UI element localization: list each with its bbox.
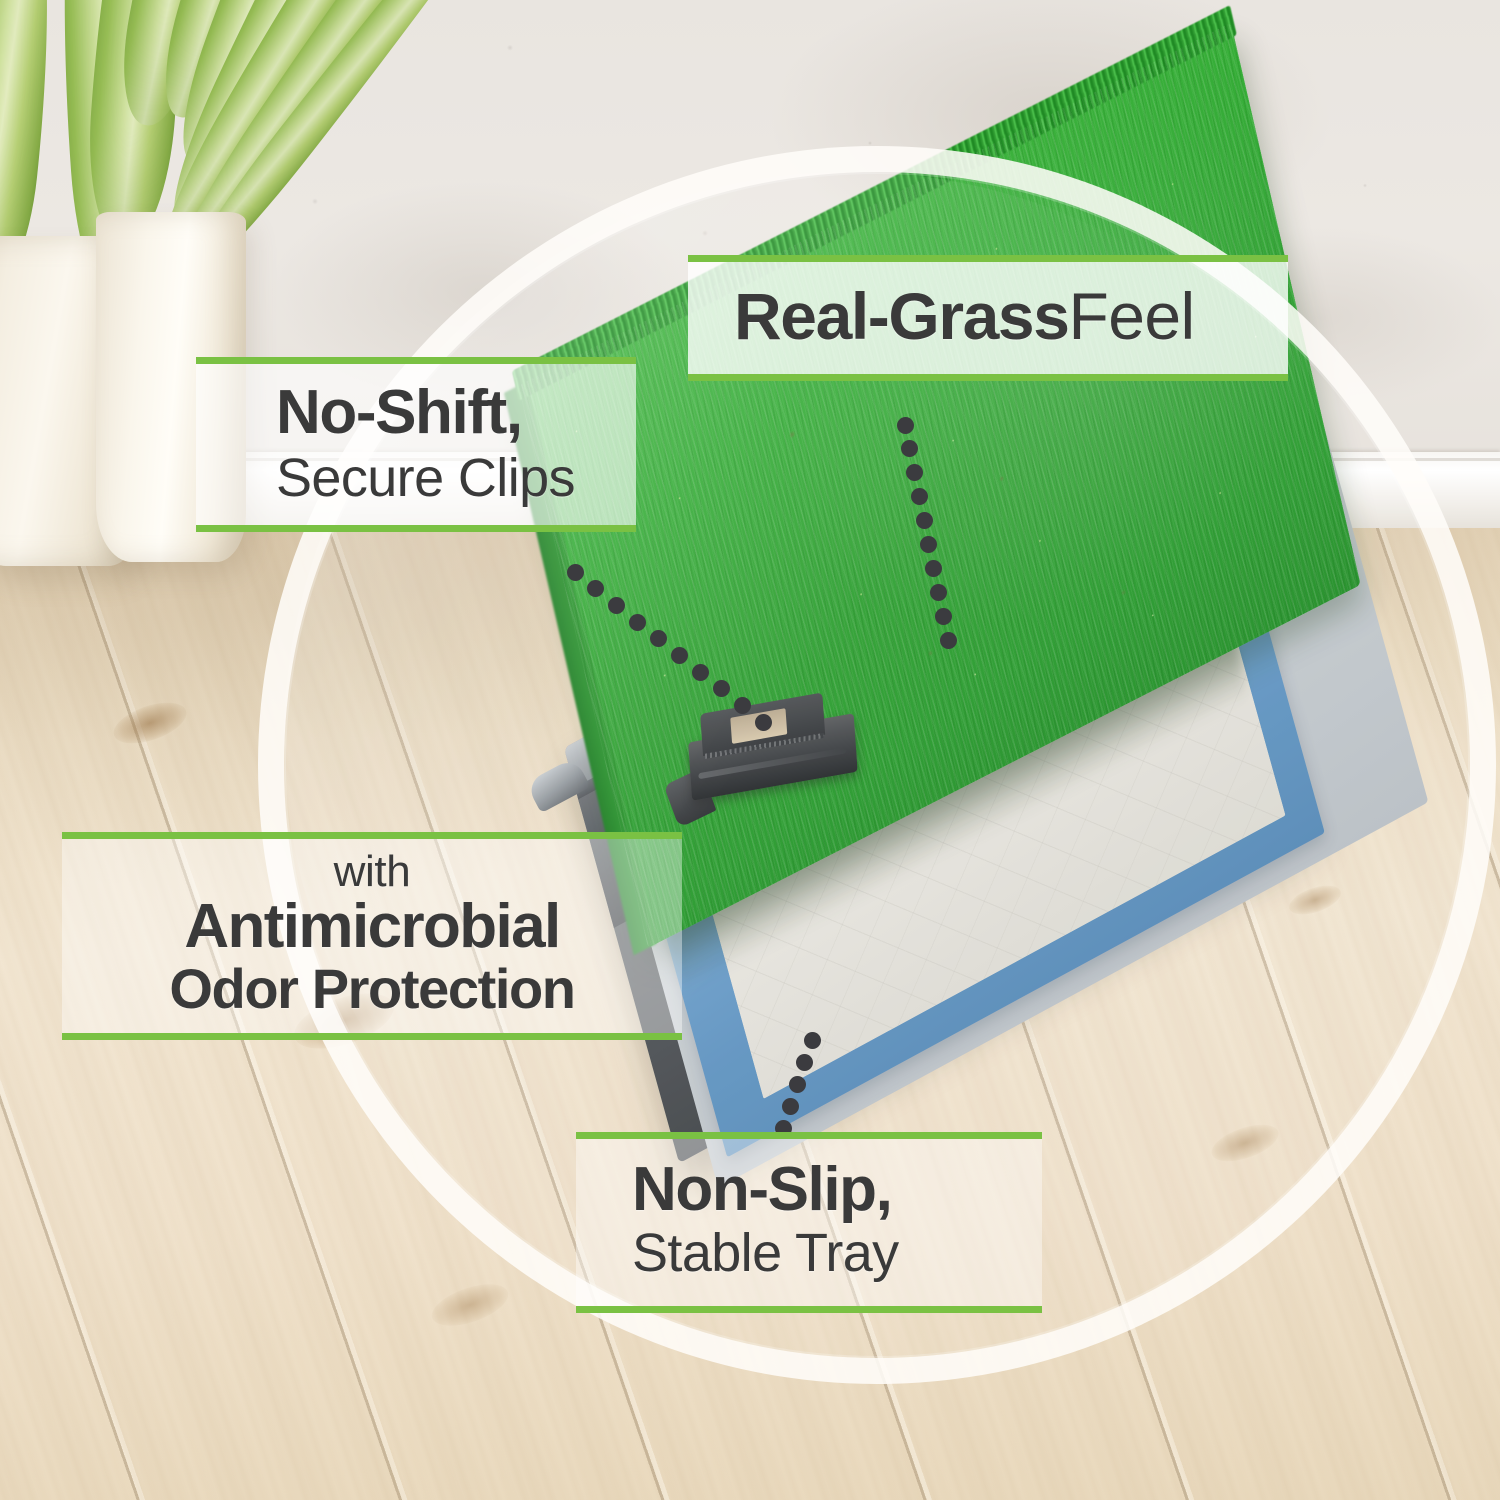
callout-light-text: Feel (1069, 279, 1195, 353)
callout-bold-text: Non-Slip, (632, 1157, 1022, 1223)
callout-panel: Non-Slip, Stable Tray (576, 1139, 1042, 1306)
callout-top-accent-bar (576, 1132, 1042, 1139)
callout-top-accent-bar (688, 255, 1288, 262)
callout-bold-text: No-Shift, (276, 380, 614, 446)
callout-bold-text: Real-Grass (734, 279, 1069, 353)
callout-non-slip-stable-tray[interactable]: Non-Slip, Stable Tray (576, 1132, 1042, 1313)
callout-bold-text: Odor Protection (82, 959, 662, 1018)
callout-bold-text: Antimicrobial (82, 894, 662, 960)
callout-real-grass-feel[interactable]: Real-GrassFeel (688, 255, 1288, 381)
callout-no-shift-secure-clips[interactable]: No-Shift, Secure Clips (196, 357, 636, 532)
callout-panel: Real-GrassFeel (688, 262, 1288, 374)
callout-text-line: Real-GrassFeel (734, 282, 1258, 352)
callout-top-accent-bar (196, 357, 636, 364)
callout-top-accent-bar (62, 832, 682, 839)
callout-bottom-accent-bar (196, 525, 636, 532)
callout-light-text: Secure Clips (276, 450, 614, 507)
callout-bottom-accent-bar (62, 1033, 682, 1040)
callout-light-text: Stable Tray (632, 1225, 1022, 1282)
callout-antimicrobial-odor-protection[interactable]: with Antimicrobial Odor Protection (62, 832, 682, 1040)
callout-panel: No-Shift, Secure Clips (196, 364, 636, 525)
callout-light-text: with (82, 849, 662, 896)
infographic-canvas: Real-GrassFeel No-Shift, Secure Clips wi… (0, 0, 1500, 1500)
dog-grass-pad-product (540, 350, 1440, 1230)
callout-bottom-accent-bar (576, 1306, 1042, 1313)
callout-bottom-accent-bar (688, 374, 1288, 381)
callout-panel: with Antimicrobial Odor Protection (62, 839, 682, 1033)
